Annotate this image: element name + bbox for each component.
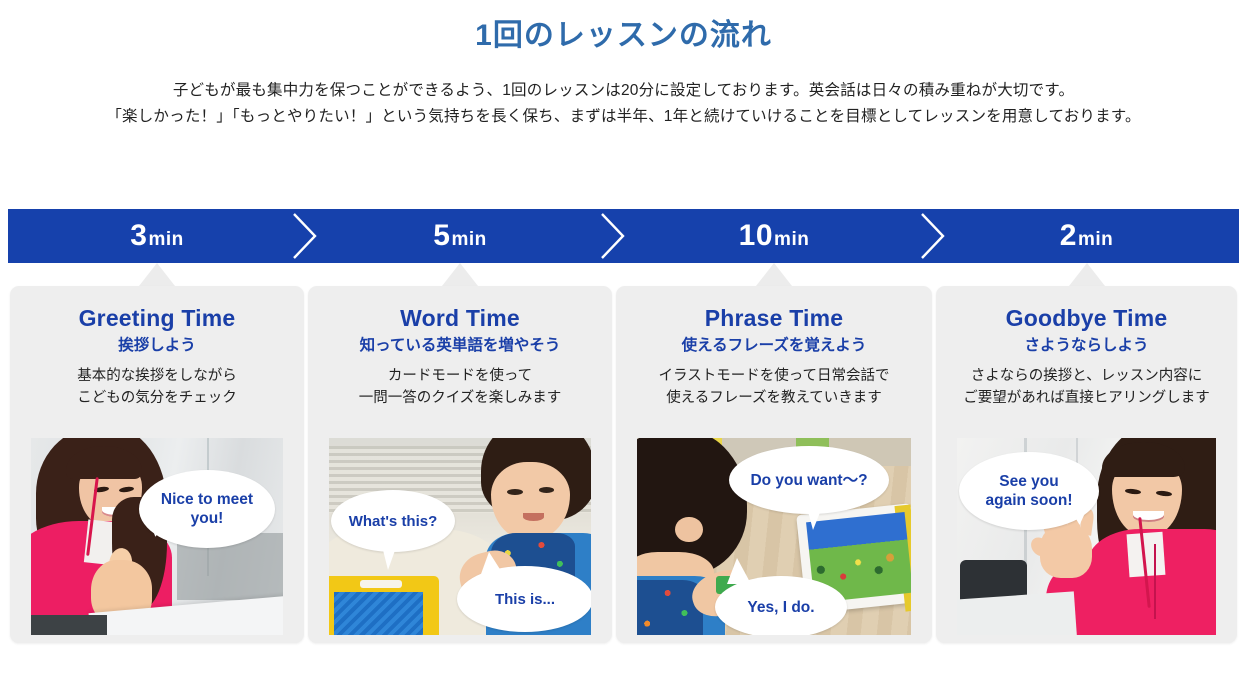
lead-paragraph: 子どもが最も集中力を保つことができるよう、1回のレッスンは20分に設定しておりま…	[0, 78, 1247, 130]
card-pointer-triangle	[139, 263, 175, 286]
bubble-yes-i-do: Yes, I do.	[715, 576, 847, 635]
bubble-see-you-again-soon: See you again soon!	[959, 452, 1099, 530]
card-pointer-triangle	[756, 263, 792, 286]
timeline-duration-4: 2min	[1060, 219, 1113, 253]
word-time-card[interactable]: Word Time 知っている英単語を増やそう カードモードを使って 一問一答の…	[308, 286, 612, 643]
lead-line-2: 「楽しかった！」「もっとやりたい！」という気持ちを長く保ち、まずは半年、1年と続…	[0, 104, 1247, 130]
timeline-segment-1: 3min	[8, 209, 306, 263]
bubble-nice-to-meet-you: Nice to meet you!	[139, 470, 275, 548]
card-title-en: Goodbye Time	[936, 304, 1237, 332]
card-description: さよならの挨拶と、レッスン内容に ご要望があれば直接ヒアリングします	[936, 365, 1237, 409]
teacher-thumbs-up-photo: Nice to meet you!	[31, 438, 283, 635]
phrase-time-card[interactable]: Phrase Time 使えるフレーズを覚えよう イラストモードを使って日常会話…	[616, 286, 932, 643]
card-description: イラストモードを使って日常会話で 使えるフレーズを教えていきます	[616, 365, 932, 409]
card-title-en: Greeting Time	[10, 304, 304, 332]
timeline-duration-1: 3min	[130, 219, 183, 253]
card-description-line-2: こどもの気分をチェック	[10, 387, 304, 409]
bubble-this-is: This is...	[457, 566, 591, 632]
card-description: カードモードを使って 一問一答のクイズを楽しみます	[308, 365, 612, 409]
child-illustration-mode-photo: Do you want〜? Yes, I do.	[637, 438, 911, 635]
timeline-segment-3: 10min	[614, 209, 934, 263]
card-description-line-1: 基本的な挨拶をしながら	[10, 365, 304, 387]
lesson-steps-row: Greeting Time 挨拶しよう 基本的な挨拶をしながら こどもの気分をチ…	[8, 263, 1239, 663]
lead-line-1: 子どもが最も集中力を保つことができるよう、1回のレッスンは20分に設定しておりま…	[0, 78, 1247, 104]
card-description-line-1: さよならの挨拶と、レッスン内容に	[936, 365, 1237, 387]
card-title-jp: さようならしよう	[936, 335, 1237, 357]
teacher-waving-photo: See you again soon!	[957, 438, 1216, 635]
page-title: 1回のレッスンの流れ	[0, 16, 1247, 56]
card-pointer-triangle	[1069, 263, 1105, 286]
card-title-jp: 知っている英単語を増やそう	[308, 335, 612, 357]
card-pointer-triangle	[442, 263, 478, 286]
timeline-segment-4: 2min	[934, 209, 1239, 263]
child-with-tablet-photo: What's this? This is...	[329, 438, 591, 635]
card-description-line-2: ご要望があれば直接ヒアリングします	[936, 387, 1237, 409]
card-description: 基本的な挨拶をしながら こどもの気分をチェック	[10, 365, 304, 409]
lesson-step-4: Goodbye Time さようならしよう さよならの挨拶と、レッスン内容に ご…	[934, 263, 1239, 663]
goodbye-time-card[interactable]: Goodbye Time さようならしよう さよならの挨拶と、レッスン内容に ご…	[936, 286, 1237, 643]
lesson-step-1: Greeting Time 挨拶しよう 基本的な挨拶をしながら こどもの気分をチ…	[8, 263, 306, 663]
card-title-jp: 使えるフレーズを覚えよう	[616, 335, 932, 357]
lesson-step-3: Phrase Time 使えるフレーズを覚えよう イラストモードを使って日常会話…	[614, 263, 934, 663]
timeline-segment-2: 5min	[306, 209, 614, 263]
timeline-duration-3: 10min	[739, 219, 810, 253]
card-title-en: Word Time	[308, 304, 612, 332]
card-description-line-1: イラストモードを使って日常会話で	[616, 365, 932, 387]
greeting-time-card[interactable]: Greeting Time 挨拶しよう 基本的な挨拶をしながら こどもの気分をチ…	[10, 286, 304, 643]
card-description-line-2: 一問一答のクイズを楽しみます	[308, 387, 612, 409]
card-description-line-2: 使えるフレーズを教えていきます	[616, 387, 932, 409]
bubble-whats-this: What's this?	[331, 490, 455, 552]
card-title-en: Phrase Time	[616, 304, 932, 332]
lesson-timeline-banner: 3min 5min 10min 2min	[8, 209, 1239, 263]
card-title-jp: 挨拶しよう	[10, 335, 304, 357]
card-description-line-1: カードモードを使って	[308, 365, 612, 387]
lesson-step-2: Word Time 知っている英単語を増やそう カードモードを使って 一問一答の…	[306, 263, 614, 663]
timeline-duration-2: 5min	[433, 219, 486, 253]
bubble-do-you-want: Do you want〜?	[729, 446, 889, 514]
